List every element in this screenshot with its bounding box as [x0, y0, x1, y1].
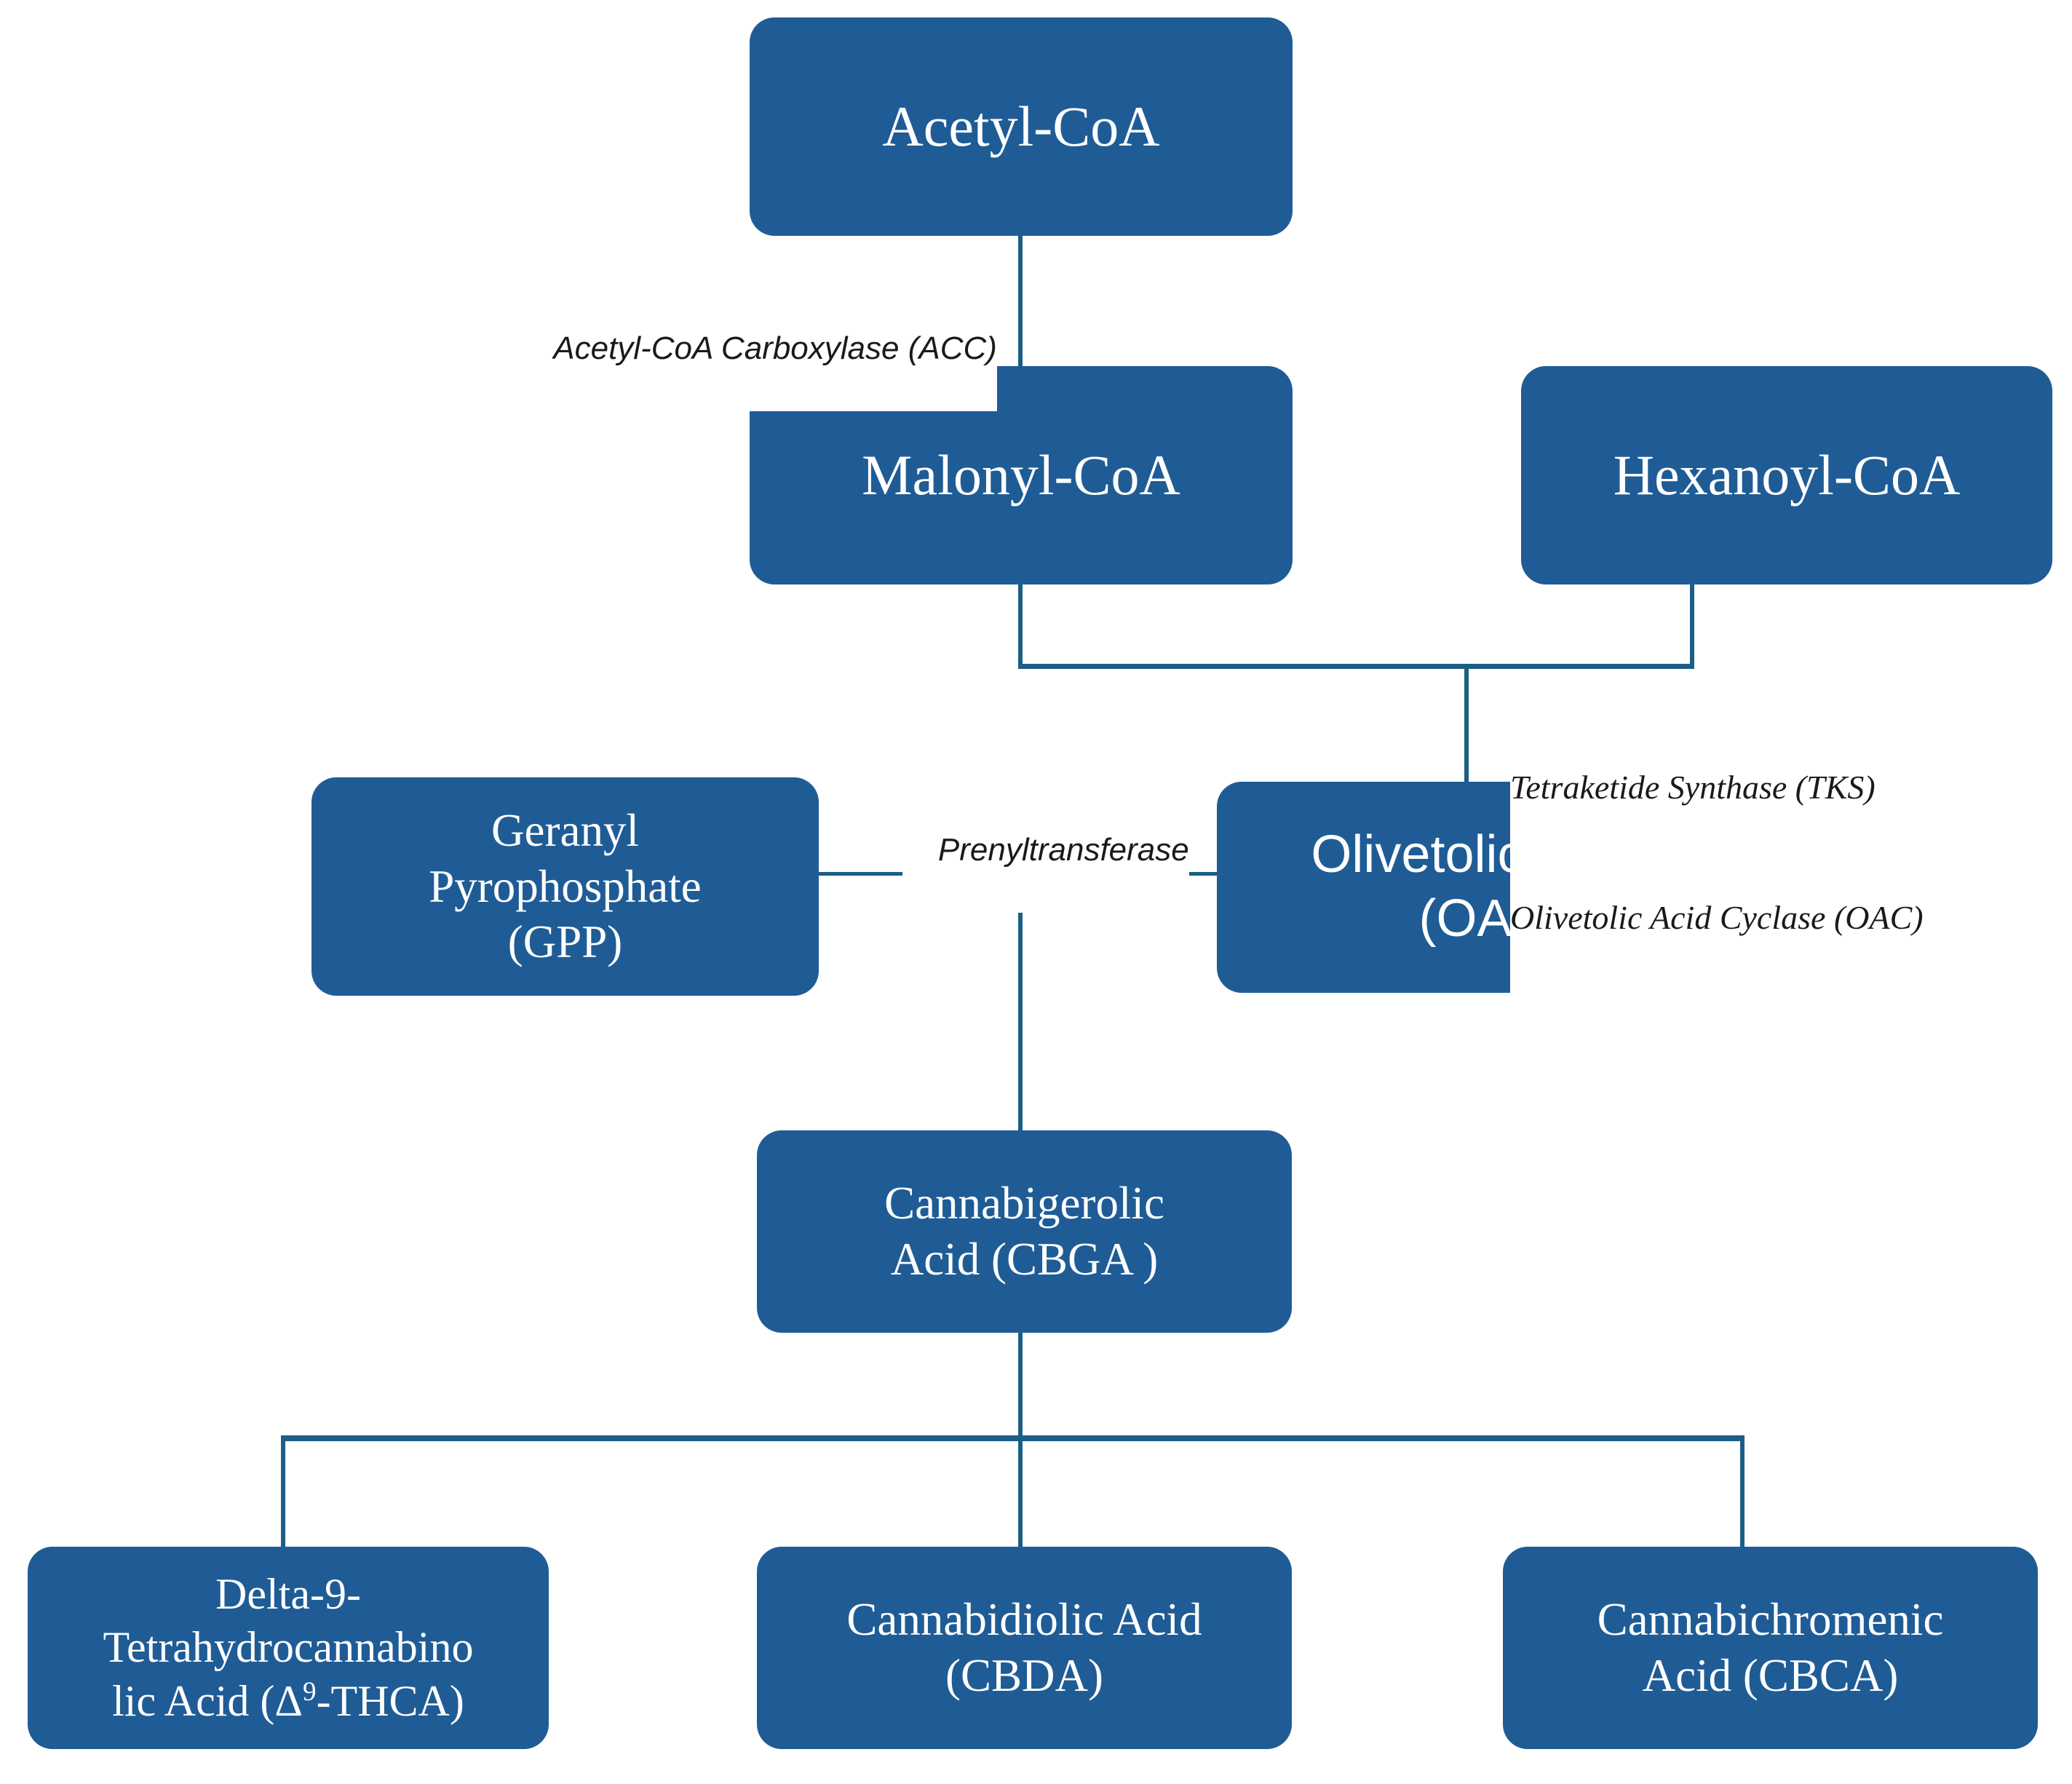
- node-gpp[interactable]: Geranyl Pyrophosphate (GPP): [311, 777, 819, 996]
- node-gpp-line-2: Pyrophosphate: [325, 859, 806, 915]
- edge-hexanoylcoa-stub: [1690, 581, 1694, 668]
- node-cbca-line-1: Cannabichromenic: [1516, 1592, 2025, 1648]
- node-acetyl-coa[interactable]: Acetyl-CoA: [750, 17, 1293, 236]
- edge-distribution-bar: [281, 1435, 1744, 1441]
- node-cbga-line-1: Cannabigerolic: [770, 1176, 1279, 1232]
- edge-malonylcoa-stub: [1018, 581, 1023, 668]
- node-thca-line-1: Delta-9-: [41, 1568, 536, 1621]
- node-cbda[interactable]: Cannabidiolic Acid (CBDA): [757, 1547, 1292, 1749]
- edge-label-prenyltransferase: Prenyltransferase: [902, 788, 1189, 913]
- node-cbca[interactable]: Cannabichromenic Acid (CBCA): [1503, 1547, 2038, 1749]
- edge-join-bar-upper: [1018, 664, 1694, 669]
- edge-to-cbca: [1740, 1435, 1744, 1548]
- edge-label-oac-text: Olivetolic Acid Cyclase (OAC): [1510, 896, 1924, 940]
- edge-label-prenyltransferase-text: Prenyltransferase: [938, 832, 1189, 868]
- edge-label-acc-text: Acetyl-CoA Carboxylase (ACC): [553, 330, 997, 366]
- node-hexanoyl-coa-label: Hexanoyl-CoA: [1534, 440, 2039, 510]
- node-cbga[interactable]: Cannabigerolic Acid (CBGA ): [757, 1130, 1292, 1333]
- edge-cbga-stub: [1018, 1331, 1023, 1438]
- node-cbca-line-2: Acid (CBCA): [1516, 1648, 2025, 1704]
- node-hexanoyl-coa[interactable]: Hexanoyl-CoA: [1521, 366, 2052, 584]
- pathway-diagram: Acetyl-CoA Malonyl-CoA Hexanoyl-CoA Gera…: [0, 0, 2072, 1784]
- node-gpp-line-1: Geranyl: [325, 803, 806, 859]
- node-thca[interactable]: Delta-9- Tetrahydrocannabino lic Acid (Δ…: [28, 1547, 549, 1749]
- edge-label-tks-text: Tetraketide Synthase (TKS): [1510, 766, 1924, 809]
- node-thca-line-3: lic Acid (Δ9-THCA): [41, 1675, 536, 1728]
- edge-label-acc: Acetyl-CoA Carboxylase (ACC): [519, 286, 997, 411]
- node-malonyl-coa-label: Malonyl-CoA: [763, 440, 1279, 510]
- edge-to-thca: [281, 1435, 285, 1548]
- edge-acetylcoa-to-malonylcoa: [1018, 233, 1023, 368]
- node-cbga-line-2: Acid (CBGA ): [770, 1232, 1279, 1288]
- edge-label-tks-oac: Tetraketide Synthase (TKS) Olivetolic Ac…: [1510, 678, 1924, 1026]
- node-thca-line-2: Tetrahydrocannabino: [41, 1621, 536, 1674]
- node-gpp-line-3: (GPP): [325, 914, 806, 970]
- node-cbda-line-2: (CBDA): [770, 1648, 1279, 1704]
- edge-to-cbda: [1018, 1435, 1023, 1548]
- edge-join-to-olivetolicacid: [1464, 664, 1469, 782]
- node-cbda-line-1: Cannabidiolic Acid: [770, 1592, 1279, 1648]
- node-acetyl-coa-label: Acetyl-CoA: [763, 92, 1279, 161]
